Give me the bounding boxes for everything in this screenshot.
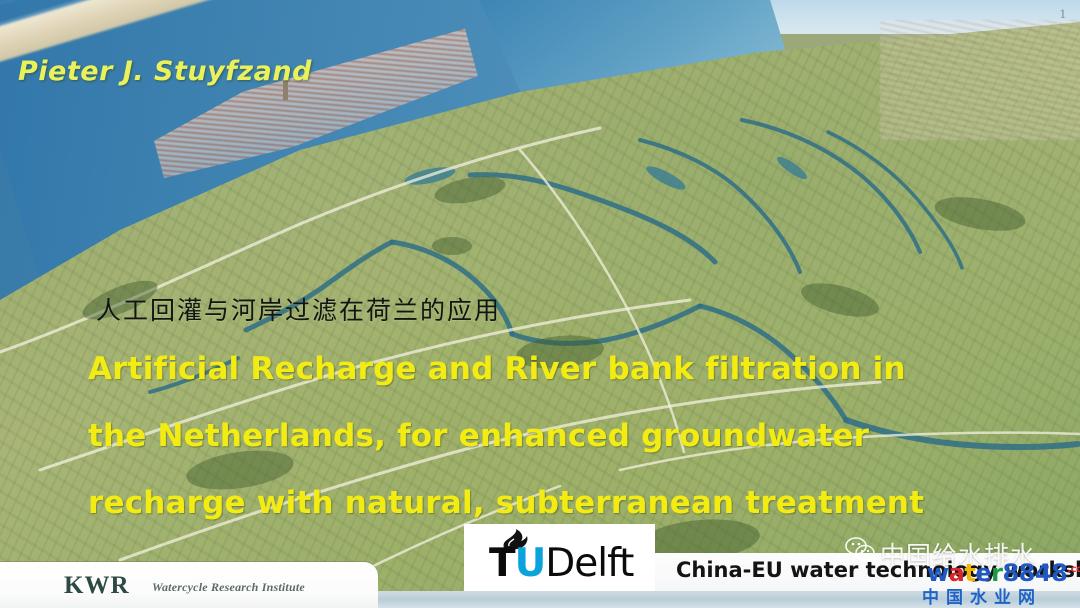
english-title: Artificial Recharge and River bank filtr… (88, 336, 988, 537)
english-title-line-2: the Netherlands, for enhanced groundwate… (88, 403, 988, 470)
wechat-icon (845, 537, 875, 563)
watermark-cwn-text: 中国水业网 (922, 583, 1042, 608)
presentation-slide: 1 Pieter J. Stuyfzand 人工回灌与河岸过滤在荷兰的应用 Ar… (0, 0, 1080, 608)
tudelft-letter-t: T (489, 541, 515, 586)
slide-number: 1 (1060, 6, 1067, 22)
tudelft-letter-u: U (515, 541, 546, 586)
kwr-tagline: Watercycle Research Institute (152, 580, 305, 595)
author-name: Pieter J. Stuyfzand (18, 56, 312, 87)
chinese-title: 人工回灌与河岸过滤在荷兰的应用 (96, 291, 501, 327)
kwr-wordmark: KWR (64, 572, 130, 600)
w8848-domain: .com (1067, 564, 1080, 575)
tudelft-name: Delft (545, 541, 633, 586)
tudelft-wordmark: TUDelft (489, 543, 633, 585)
english-title-line-1: Artificial Recharge and River bank filtr… (88, 336, 988, 403)
